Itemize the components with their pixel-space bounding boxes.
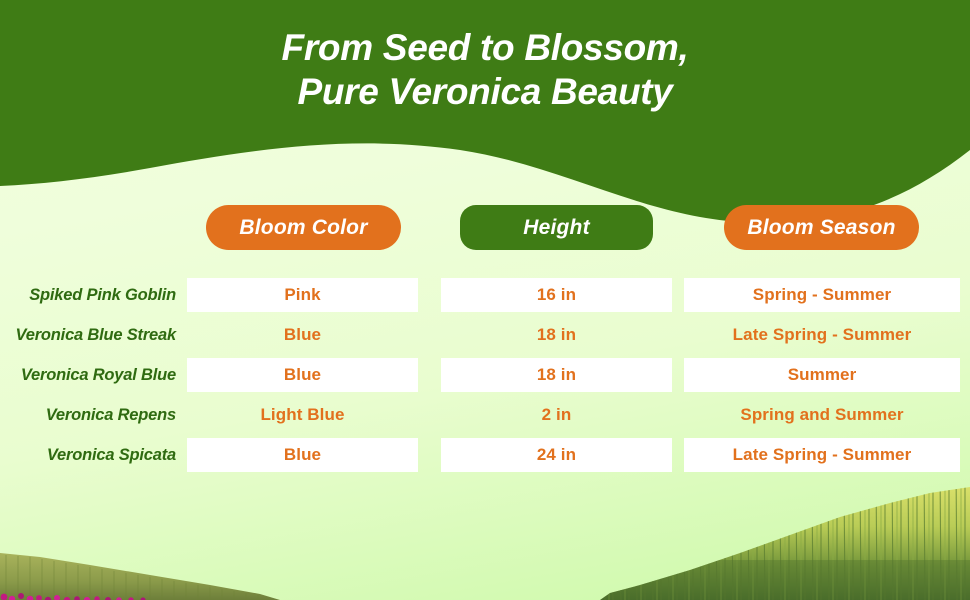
- table-row: Veronica Repens Light Blue 2 in Spring a…: [0, 395, 970, 435]
- infographic-canvas: From Seed to Blossom, Pure Veronica Beau…: [0, 0, 970, 600]
- header-band: [0, 0, 970, 240]
- column-header-bloom-season: Bloom Season: [724, 205, 919, 250]
- cell-height: 18 in: [441, 318, 672, 352]
- table-row: Veronica Royal Blue Blue 18 in Summer: [0, 355, 970, 395]
- cell-bloom-color: Blue: [187, 438, 418, 472]
- cell-bloom-color: Blue: [187, 358, 418, 392]
- header-wave-svg: [0, 0, 970, 240]
- scenery-svg: [0, 465, 970, 600]
- cell-bloom-season: Summer: [684, 358, 960, 392]
- table-header-row: Bloom Color Height Bloom Season: [0, 205, 970, 253]
- cell-bloom-color: Blue: [187, 318, 418, 352]
- cell-bloom-season: Spring and Summer: [684, 398, 960, 432]
- cell-bloom-color: Pink: [187, 278, 418, 312]
- row-label: Veronica Spicata: [0, 435, 176, 475]
- header-wave-shape: [0, 0, 970, 223]
- table-row: Spiked Pink Goblin Pink 16 in Spring - S…: [0, 275, 970, 315]
- right-grass-field: [600, 465, 970, 600]
- cell-bloom-season: Spring - Summer: [684, 278, 960, 312]
- table-row: Veronica Blue Streak Blue 18 in Late Spr…: [0, 315, 970, 355]
- left-grass-mound: [0, 553, 280, 600]
- column-header-bloom-color: Bloom Color: [206, 205, 401, 250]
- cell-bloom-season: Late Spring - Summer: [684, 318, 960, 352]
- cell-bloom-season: Late Spring - Summer: [684, 438, 960, 472]
- row-label: Veronica Repens: [0, 395, 176, 435]
- table-row: Veronica Spicata Blue 24 in Late Spring …: [0, 435, 970, 475]
- row-label: Veronica Royal Blue: [0, 355, 176, 395]
- scenery-illustration: [0, 465, 970, 600]
- table-body: Spiked Pink Goblin Pink 16 in Spring - S…: [0, 275, 970, 475]
- comparison-table: Bloom Color Height Bloom Season Spiked P…: [0, 205, 970, 475]
- row-label: Spiked Pink Goblin: [0, 275, 176, 315]
- column-header-height: Height: [460, 205, 653, 250]
- cell-height: 16 in: [441, 278, 672, 312]
- cell-height: 24 in: [441, 438, 672, 472]
- cell-bloom-color: Light Blue: [187, 398, 418, 432]
- row-label: Veronica Blue Streak: [0, 315, 176, 355]
- cell-height: 2 in: [441, 398, 672, 432]
- cell-height: 18 in: [441, 358, 672, 392]
